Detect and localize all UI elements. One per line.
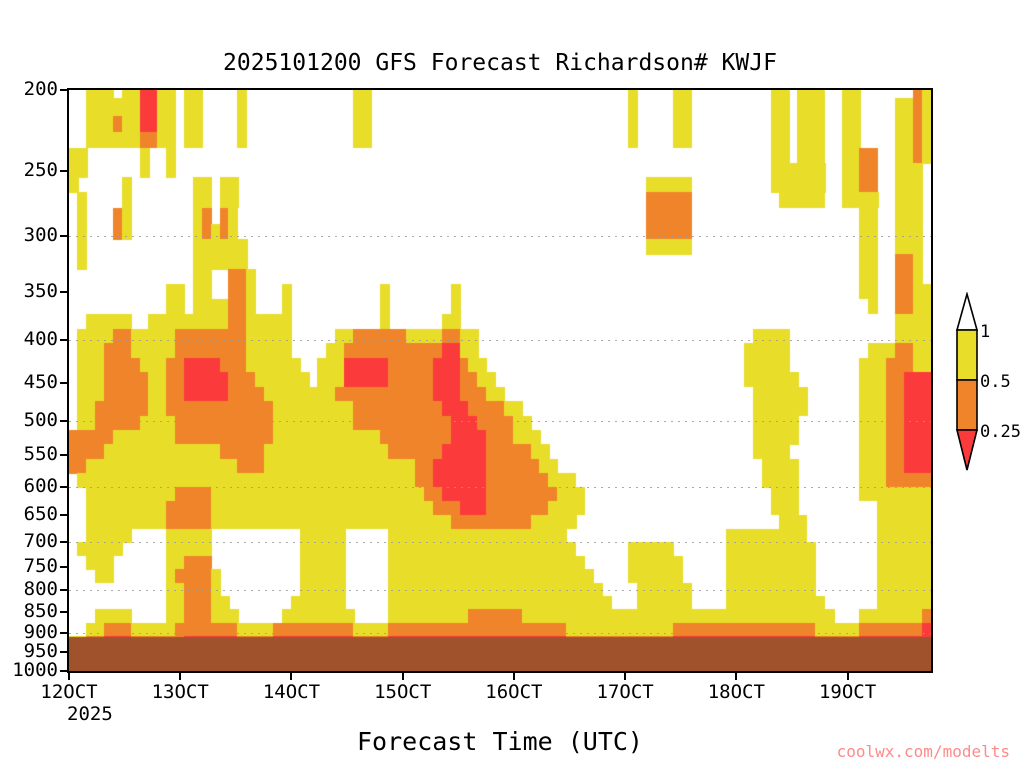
x-tick-label-17OCT: 17OCT bbox=[597, 681, 654, 703]
colorbar-label-05: 0.5 bbox=[980, 372, 1011, 392]
x-axis-tick-labels: 12OCT13OCT14OCT15OCT16OCT17OCT18OCT19OCT bbox=[0, 0, 1024, 768]
x-tick-label-19OCT: 19OCT bbox=[819, 681, 876, 703]
x-tick-label-18OCT: 18OCT bbox=[708, 681, 765, 703]
x-tick-mark-15OCT bbox=[402, 673, 404, 680]
colorbar-label-025: 0.25 bbox=[980, 422, 1021, 442]
colorbar-legend: 1 0.5 0.25 bbox=[938, 292, 1024, 472]
x-tick-mark-12OCT bbox=[68, 673, 70, 680]
colorbar-above-cap bbox=[957, 294, 977, 330]
watermark: coolwx.com/modelts bbox=[837, 742, 1010, 761]
x-tick-mark-13OCT bbox=[179, 673, 181, 680]
x-tick-label-16OCT: 16OCT bbox=[485, 681, 542, 703]
colorbar-label-1: 1 bbox=[980, 322, 990, 342]
x-tick-mark-16OCT bbox=[513, 673, 515, 680]
x-tick-mark-19OCT bbox=[847, 673, 849, 680]
x-tick-label-15OCT: 15OCT bbox=[374, 681, 431, 703]
colorbar-below-cap bbox=[957, 430, 977, 470]
x-tick-label-14OCT: 14OCT bbox=[263, 681, 320, 703]
x-tick-label-12OCT: 12OCT bbox=[40, 681, 97, 703]
x-tick-mark-18OCT bbox=[735, 673, 737, 680]
x-tick-label-13OCT: 13OCT bbox=[152, 681, 209, 703]
x-axis-year-label: 2025 bbox=[67, 703, 113, 725]
x-tick-mark-14OCT bbox=[290, 673, 292, 680]
forecast-cross-section-figure: 2025101200 GFS Forecast Richardson# KWJF… bbox=[0, 0, 1024, 768]
x-tick-mark-17OCT bbox=[624, 673, 626, 680]
colorbar-band-high bbox=[957, 330, 977, 380]
colorbar-band-mid bbox=[957, 380, 977, 430]
